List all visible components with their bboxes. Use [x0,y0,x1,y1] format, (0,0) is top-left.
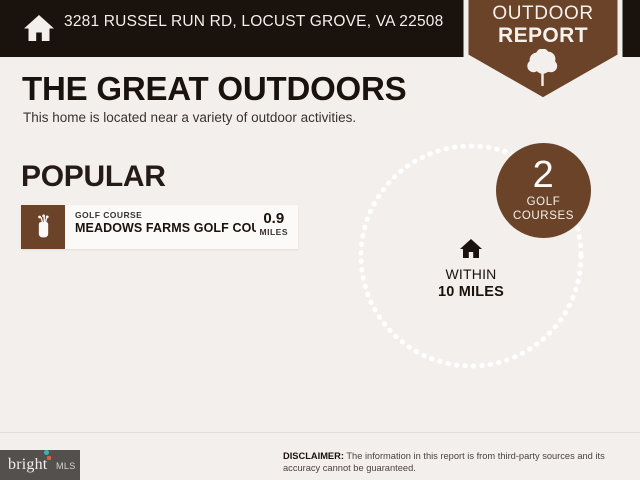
list-item-text: GOLF COURSE MEADOWS FARMS GOLF COURSE [65,205,256,249]
count-bubble-label-line-1: GOLF [496,195,591,209]
popular-list: GOLF COURSE MEADOWS FARMS GOLF COURSE 0.… [21,205,298,249]
count-bubble-label-line-2: COURSES [496,209,591,223]
radius-within-label: WITHIN [356,266,586,283]
tree-icon [526,49,560,87]
logo-dot-accent [44,450,49,455]
property-address: 3281 RUSSEL RUN RD, LOCUST GROVE, VA 225… [64,13,443,31]
radius-distance-label: 10 MILES [356,283,586,301]
radius-center-label: WITHIN 10 MILES [356,238,586,301]
footer-divider [0,432,640,433]
logo-tick-accent [47,456,51,460]
count-bubble-number: 2 [496,143,591,195]
list-item[interactable]: GOLF COURSE MEADOWS FARMS GOLF COURSE 0.… [21,205,298,249]
outdoor-report-page: 3281 RUSSEL RUN RD, LOCUST GROVE, VA 225… [0,0,640,480]
logo-mls-suffix: MLS [56,461,76,471]
bright-mls-logo: bright MLS [0,450,80,480]
list-item-distance: 0.9 MILES [256,205,298,249]
list-item-distance-unit: MILES [260,227,288,238]
list-item-category: GOLF COURSE [75,210,256,221]
disclaimer-label: DISCLAIMER: [283,451,344,461]
page-title: THE GREAT OUTDOORS [22,70,406,108]
golf-bag-icon [21,205,65,249]
disclaimer: DISCLAIMER: The information in this repo… [283,450,628,474]
list-item-name: MEADOWS FARMS GOLF COURSE [75,221,256,236]
page-subtitle: This home is located near a variety of o… [23,110,356,125]
logo-wordmark: bright [8,456,47,474]
list-item-distance-value: 0.9 [260,211,288,227]
home-icon [22,11,56,45]
count-bubble-golf-courses[interactable]: 2 GOLF COURSES [496,143,591,238]
popular-heading: POPULAR [21,160,166,194]
home-icon [459,238,483,260]
outdoor-report-badge: OUTDOOR REPORT [462,0,624,104]
